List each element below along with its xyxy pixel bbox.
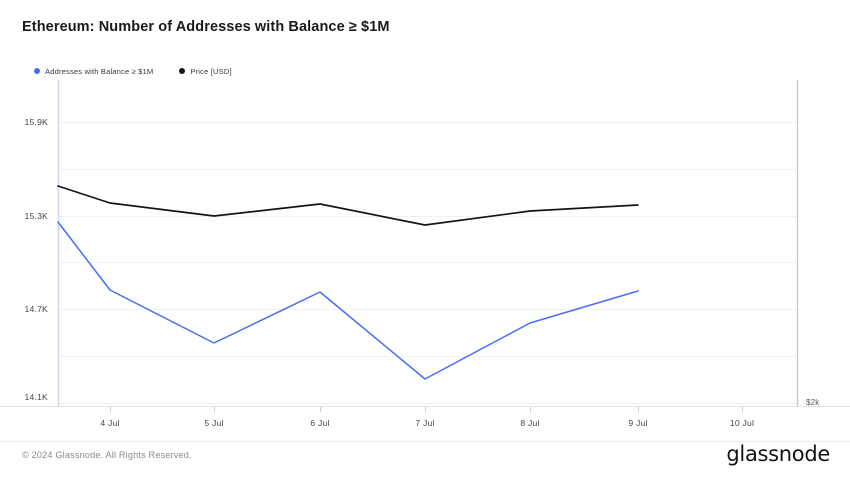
footer-divider xyxy=(0,441,850,442)
legend-dot-icon xyxy=(34,68,40,74)
y-tick-label: 15.3K xyxy=(2,211,48,221)
right-axis-label: $2k xyxy=(806,398,820,407)
x-tick-label: 6 Jul xyxy=(290,418,350,428)
legend-item-addresses[interactable]: Addresses with Balance ≥ $1M xyxy=(34,67,153,76)
x-tick-label: 8 Jul xyxy=(500,418,560,428)
series-line-price xyxy=(58,186,638,225)
y-tick-label: 14.1K xyxy=(2,392,48,402)
x-tick-label: 4 Jul xyxy=(80,418,140,428)
x-tick-label: 7 Jul xyxy=(395,418,455,428)
footer-copyright: © 2024 Glassnode. All Rights Reserved. xyxy=(22,450,192,460)
legend-label-addresses: Addresses with Balance ≥ $1M xyxy=(45,67,153,76)
chart-legend: Addresses with Balance ≥ $1M Price [USD] xyxy=(34,64,232,78)
y-tick-label: 14.7K xyxy=(2,304,48,314)
legend-label-price: Price [USD] xyxy=(190,67,231,76)
legend-dot-icon xyxy=(179,68,185,74)
page-title: Ethereum: Number of Addresses with Balan… xyxy=(22,19,390,35)
x-tick-label: 5 Jul xyxy=(184,418,244,428)
chart-gridlines xyxy=(58,123,797,404)
series-line-addresses xyxy=(58,222,638,379)
x-tick-label: 9 Jul xyxy=(608,418,668,428)
y-tick-label: 15.9K xyxy=(2,117,48,127)
glassnode-logo: glassnode xyxy=(726,442,830,466)
legend-item-price[interactable]: Price [USD] xyxy=(179,67,231,76)
x-axis-ticks xyxy=(111,407,743,412)
x-tick-label: 10 Jul xyxy=(712,418,772,428)
